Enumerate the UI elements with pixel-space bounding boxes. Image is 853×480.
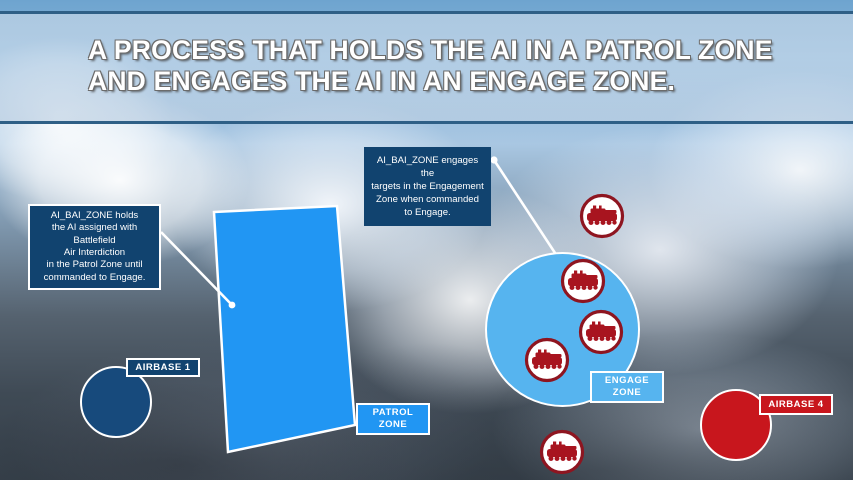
target-icon-5[interactable] [539, 429, 585, 475]
target-icon-3[interactable] [578, 309, 624, 355]
slide-canvas: A PROCESS THAT HOLDS THE AI IN A PATROL … [0, 0, 853, 480]
callout-engage-zone[interactable]: AI_BAI_ZONE engages the targets in the E… [364, 147, 491, 226]
label-airbase-4[interactable]: AIRBASE 4 [759, 394, 833, 415]
title-banner: A PROCESS THAT HOLDS THE AI IN A PATROL … [0, 11, 853, 124]
label-patrol-zone[interactable]: PATROL ZONE [356, 403, 430, 435]
label-engage-zone[interactable]: ENGAGE ZONE [590, 371, 664, 403]
target-icon-2[interactable] [560, 258, 606, 304]
callout-patrol-zone[interactable]: AI_BAI_ZONE holds the AI assigned with B… [28, 204, 161, 290]
target-icon-1[interactable] [579, 193, 625, 239]
target-icon-4[interactable] [524, 337, 570, 383]
label-airbase-1[interactable]: AIRBASE 1 [126, 358, 200, 377]
page-title: A PROCESS THAT HOLDS THE AI IN A PATROL … [88, 35, 808, 97]
